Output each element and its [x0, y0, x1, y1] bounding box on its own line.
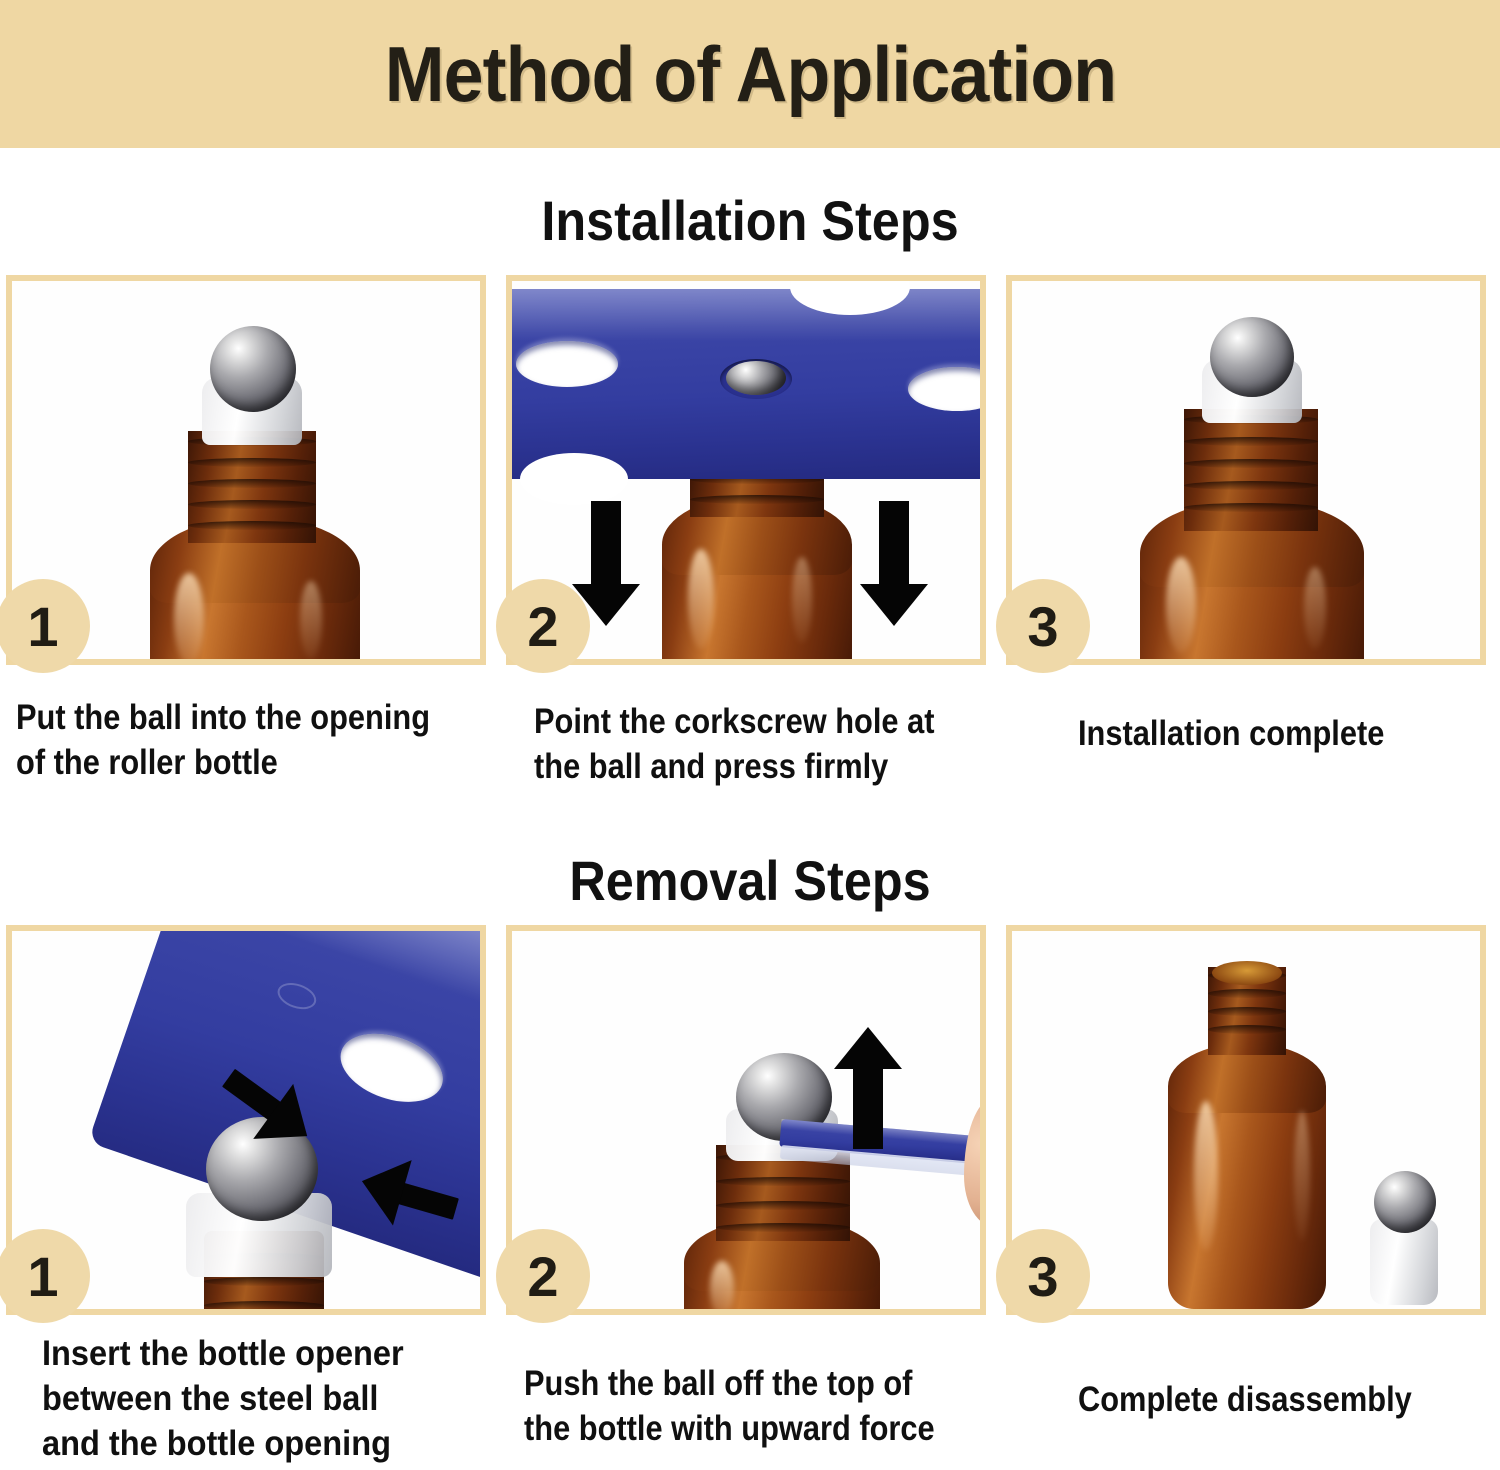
- removal-step-1-badge: 1: [0, 1229, 90, 1323]
- installation-step-2-caption: Point the corkscrew hole at the ball and…: [534, 700, 992, 790]
- section-heading-removal: Removal Steps: [75, 848, 1425, 913]
- installation-step-1-badge: 1: [0, 579, 90, 673]
- section-heading-installation: Installation Steps: [75, 188, 1425, 253]
- removal-step-2-panel: 2: [506, 925, 986, 1315]
- removal-step-3-badge: 3: [996, 1229, 1090, 1323]
- removal-step-3-panel: 3: [1006, 925, 1486, 1315]
- removal-step-1-caption: Insert the bottle opener between the ste…: [42, 1332, 507, 1466]
- press-down-arrow-right: [860, 501, 928, 626]
- steel-ball-in-corkscrew-hole: [726, 361, 786, 395]
- page-title: Method of Application: [384, 29, 1115, 120]
- installation-step-1-caption: Put the ball into the opening of the rol…: [16, 696, 509, 786]
- installation-step-1-panel: 1: [6, 275, 486, 665]
- installation-step-2-panel: 2: [506, 275, 986, 665]
- removal-step-2-caption: Push the ball off the top of the bottle …: [524, 1362, 982, 1452]
- removal-step-1-panel: 1: [6, 925, 486, 1315]
- installation-step-3-badge: 3: [996, 579, 1090, 673]
- removal-step-3-caption: Complete disassembly: [1078, 1378, 1500, 1423]
- detached-steel-ball: [1374, 1171, 1436, 1233]
- installation-step-3-panel: 3: [1006, 275, 1486, 665]
- installation-step-3-caption: Installation complete: [1078, 712, 1492, 757]
- header-banner: Method of Application: [0, 0, 1500, 148]
- hand: [964, 1099, 980, 1227]
- push-up-arrow: [834, 1027, 902, 1149]
- removal-step-2-badge: 2: [496, 1229, 590, 1323]
- installation-step-2-badge: 2: [496, 579, 590, 673]
